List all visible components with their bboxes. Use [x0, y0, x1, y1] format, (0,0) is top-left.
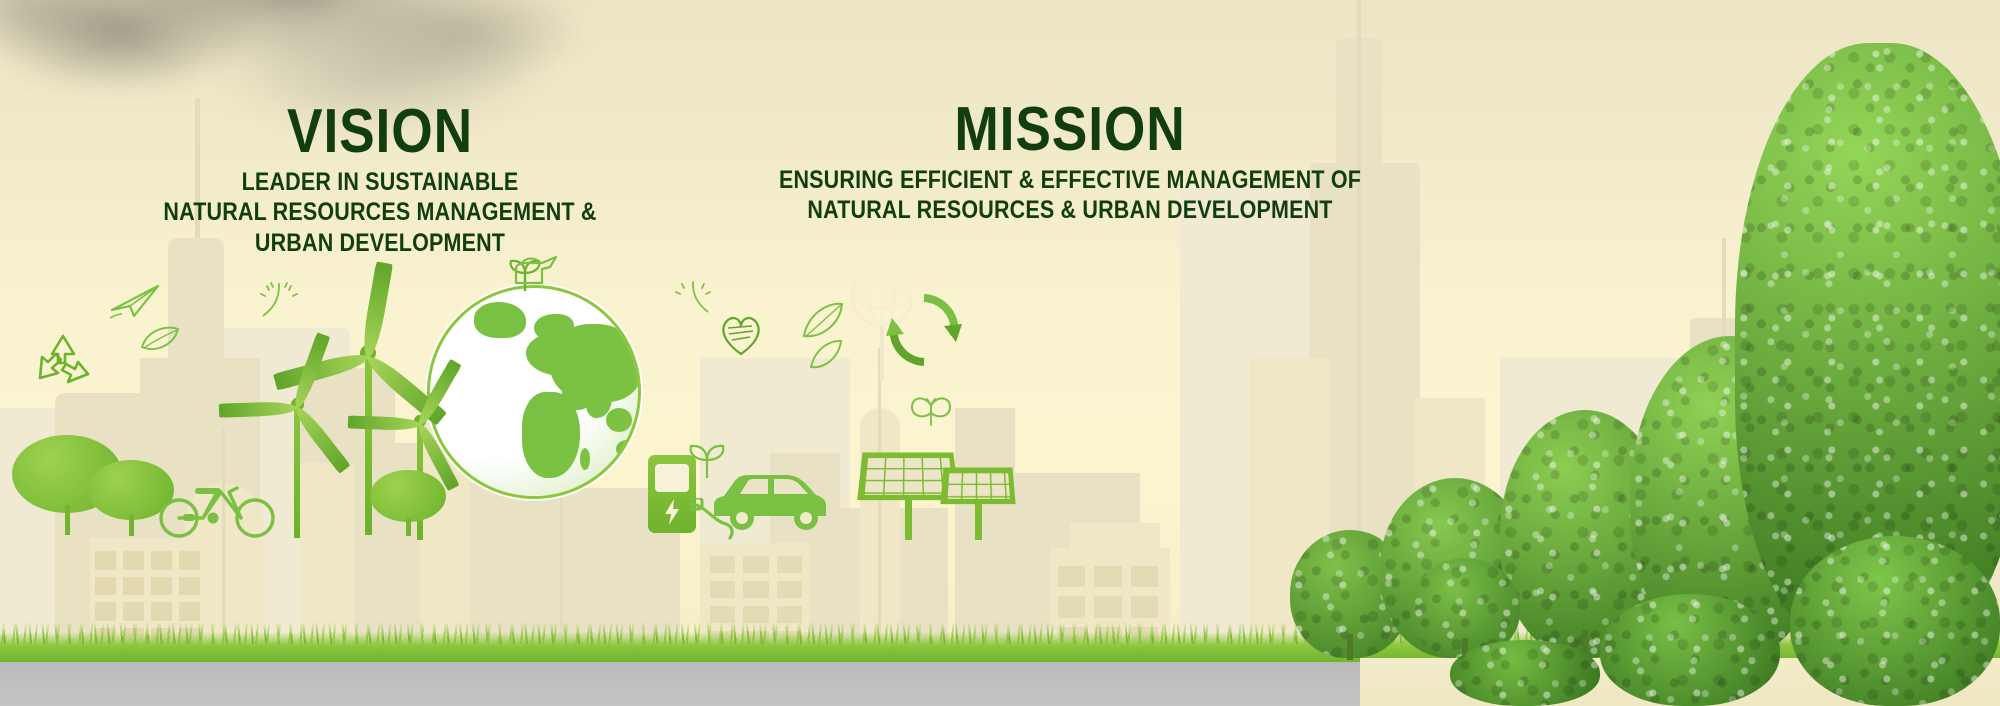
mission-line-1: ENSURING EFFICIENT & EFFECTIVE MANAGEMEN… [769, 165, 1371, 196]
watering-can-icon [510, 255, 560, 295]
dandelion-seed-icon [672, 272, 714, 318]
electric-car-icon [712, 470, 828, 532]
recycle-arrows-icon [32, 330, 94, 392]
tree [370, 470, 446, 536]
mission-heading: MISSION [769, 100, 1371, 161]
leaf-icon [140, 325, 180, 353]
leaf-icon [808, 338, 844, 372]
vision-line-2: NATURAL RESOURCES MANAGEMENT & URBAN DEV… [156, 197, 603, 258]
paper-plane-icon [108, 282, 160, 322]
vision-line-1: LEADER IN SUSTAINABLE [156, 167, 603, 198]
solar-panel [942, 466, 1014, 540]
tree [1600, 586, 1780, 706]
butterfly-icon [908, 395, 954, 431]
leaf-icon [800, 300, 846, 342]
dandelion-seed-icon [255, 272, 303, 324]
lightning-bolt-icon [663, 499, 681, 525]
vision-mission-banner: VISION LEADER IN SUSTAINABLE NATURAL RES… [0, 0, 2000, 706]
tree [1790, 526, 2000, 706]
vision-heading: VISION [156, 102, 603, 163]
circular-recycle-arrows-icon [884, 290, 964, 370]
vision-block: VISION LEADER IN SUSTAINABLE NATURAL RES… [120, 102, 640, 258]
mission-line-2: NATURAL RESOURCES & URBAN DEVELOPMENT [769, 195, 1371, 226]
mission-block: MISSION ENSURING EFFICIENT & EFFECTIVE M… [720, 100, 1420, 226]
heart-leaf-icon [718, 312, 764, 358]
bicycle-icon [155, 476, 280, 538]
tree [1450, 636, 1600, 706]
